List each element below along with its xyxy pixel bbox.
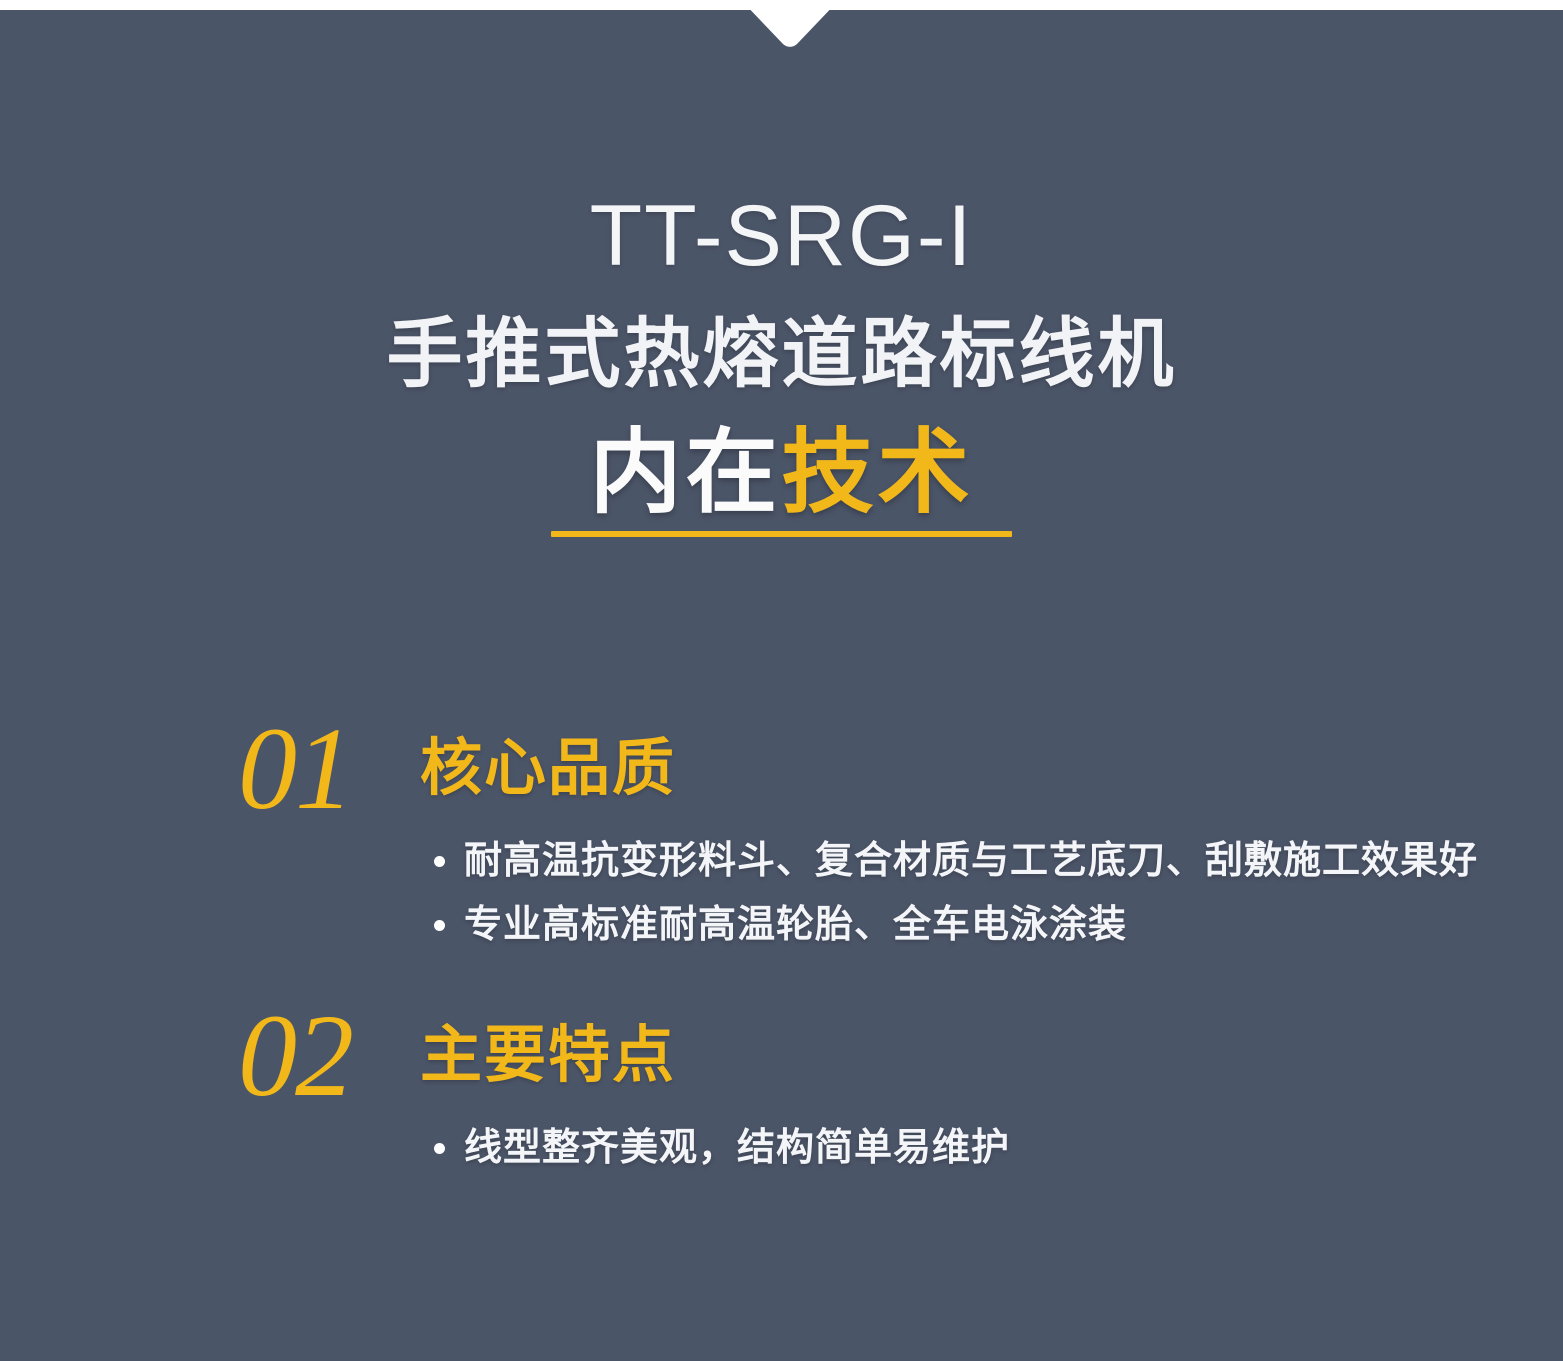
list-item: 耐高温抗变形料斗、复合材质与工艺底刀、刮敷施工效果好 (434, 842, 1563, 880)
product-detail-poster: TT-SRG-I 手推式热熔道路标线机 内在技术 01 核心品质 耐高温抗变形料… (0, 0, 1563, 1361)
tech-title-white-part: 内在 (589, 422, 781, 524)
tech-title: 内在技术 (589, 425, 973, 522)
list-item: 线型整齐美观，结构简单易维护 (434, 1129, 1563, 1167)
feature-sections: 01 核心品质 耐高温抗变形料斗、复合材质与工艺底刀、刮敷施工效果好 专业高标准… (0, 710, 1563, 1167)
bullet-dot-icon (434, 856, 445, 867)
product-subtitle: 手推式热熔道路标线机 (0, 279, 1563, 395)
heading-block: TT-SRG-I 手推式热熔道路标线机 内在技术 (0, 10, 1563, 543)
list-item: 专业高标准耐高温轮胎、全车电泳涂装 (434, 906, 1563, 944)
bullet-dot-icon (434, 1143, 445, 1154)
tech-title-group: 内在技术 (551, 425, 1011, 544)
section-header: 01 核心品质 (0, 710, 1563, 828)
page-title: TT-SRG-I (0, 10, 1563, 279)
tech-title-gold-part: 技术 (782, 422, 974, 524)
dark-panel: TT-SRG-I 手推式热熔道路标线机 内在技术 01 核心品质 耐高温抗变形料… (0, 10, 1563, 1361)
list-item-label: 线型整齐美观，结构简单易维护 (464, 1127, 1010, 1169)
feature-section-02: 02 主要特点 线型整齐美观，结构简单易维护 (0, 997, 1563, 1167)
bullet-list: 线型整齐美观，结构简单易维护 (0, 1115, 1563, 1167)
section-number-badge: 01 (238, 710, 410, 828)
list-item-label: 耐高温抗变形料斗、复合材质与工艺底刀、刮敷施工效果好 (464, 840, 1478, 882)
section-header: 02 主要特点 (0, 997, 1563, 1115)
tech-title-underline (551, 531, 1011, 537)
bullet-dot-icon (434, 920, 445, 931)
section-number-badge: 02 (238, 997, 410, 1115)
feature-section-01: 01 核心品质 耐高温抗变形料斗、复合材质与工艺底刀、刮敷施工效果好 专业高标准… (0, 710, 1563, 944)
section-heading: 主要特点 (420, 1025, 676, 1087)
section-heading: 核心品质 (420, 738, 676, 800)
bullet-list: 耐高温抗变形料斗、复合材质与工艺底刀、刮敷施工效果好 专业高标准耐高温轮胎、全车… (0, 828, 1563, 944)
list-item-label: 专业高标准耐高温轮胎、全车电泳涂装 (464, 904, 1127, 946)
